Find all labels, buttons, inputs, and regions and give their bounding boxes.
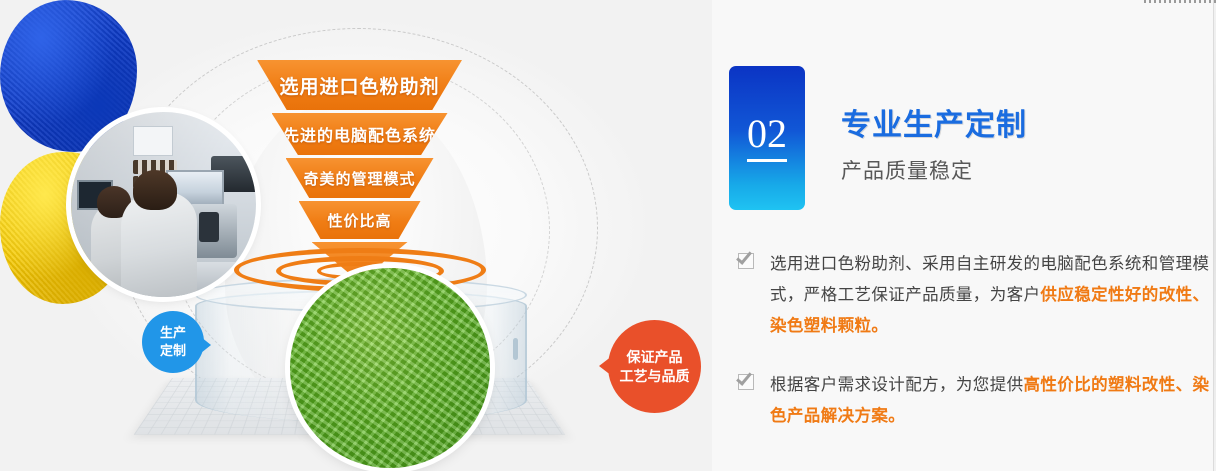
badge-production-customization[interactable]: 生产 定制 [142,311,204,373]
funnel-layer-3-label: 奇美的管理模式 [303,168,415,189]
funnel-layer-2-label: 先进的电脑配色系统 [283,122,436,146]
badge-production-line-2: 定制 [160,342,186,360]
feature-text-2-plain: 根据客户需求设计配方，为您提供 [770,376,1024,394]
section-subtitle: 产品质量稳定 [841,155,1027,185]
section-number-badge: 02 [729,66,805,210]
top-dotted-rule [1144,0,1216,3]
checkmark-icon [738,374,754,390]
list-item: 根据客户需求设计配方，为您提供高性价比的塑料改性、染色产品解决方案。 [728,370,1216,432]
feature-text-2: 根据客户需求设计配方，为您提供高性价比的塑料改性、染色产品解决方案。 [770,370,1216,432]
badge-quality-line-1: 保证产品 [627,348,683,367]
badge-quality-assurance[interactable]: 保证产品 工艺与品质 [608,320,701,413]
technician-head-right [133,170,177,210]
funnel-layer-1-label: 选用进口色粉助剂 [279,72,439,99]
illustration-panel: 选用进口色粉助剂 先进的电脑配色系统 奇美的管理模式 性价比高 生产 定制 保证… [0,0,712,471]
feature-list: 选用进口色粉助剂、采用自主研发的电脑配色系统和管理模式，严格工艺保证产品质量，为… [728,249,1216,460]
wall-document [133,126,173,156]
section-title: 专业生产定制 [841,100,1027,144]
checkmark-icon [738,253,754,269]
content-panel: 02 专业生产定制 产品质量稳定 选用进口色粉助剂、采用自主研发的电脑配色系统和… [712,0,1216,471]
section-header-text: 专业生产定制 产品质量稳定 [841,66,1027,185]
funnel-layer-1: 选用进口色粉助剂 [257,60,462,110]
feature-text-1: 选用进口色粉助剂、采用自主研发的电脑配色系统和管理模式，严格工艺保证产品质量，为… [770,249,1216,342]
list-item: 选用进口色粉助剂、采用自主研发的电脑配色系统和管理模式，严格工艺保证产品质量，为… [728,249,1216,342]
funnel-layer-2: 先进的电脑配色系统 [272,113,448,155]
cylinder-handle-right [513,338,518,360]
section-number: 02 [747,114,787,162]
green-plastic-pellets-photo [290,268,490,468]
funnel-layer-3: 奇美的管理模式 [286,158,434,198]
process-funnel: 选用进口色粉助剂 先进的电脑配色系统 奇美的管理模式 性价比高 [257,60,462,268]
funnel-layer-4-label: 性价比高 [327,210,391,231]
section-header: 02 专业生产定制 产品质量稳定 [729,66,1027,210]
funnel-layer-4: 性价比高 [299,201,421,239]
promo-banner: 选用进口色粉助剂 先进的电脑配色系统 奇美的管理模式 性价比高 生产 定制 保证… [0,0,1216,471]
badge-quality-line-2: 工艺与品质 [620,367,690,386]
badge-production-line-1: 生产 [160,324,186,342]
lab-technicians-photo [71,112,256,297]
testing-machine-core [199,212,219,242]
